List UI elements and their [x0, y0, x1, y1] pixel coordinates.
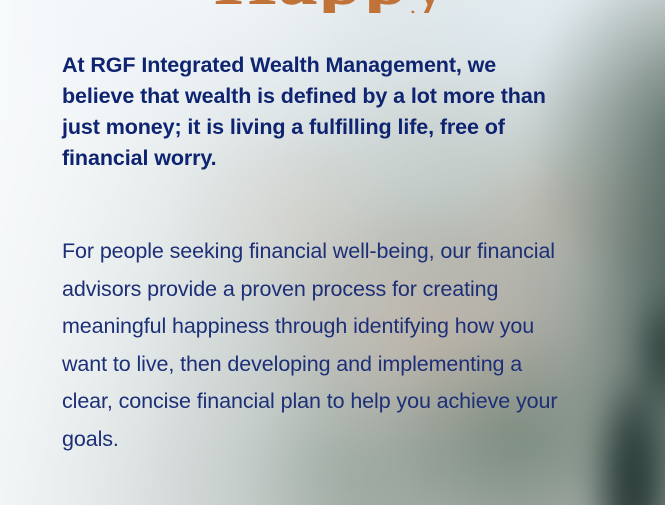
body-paragraph: For people seeking financial well-being,… — [62, 233, 567, 459]
cropped-heading-container: Happy — [0, 0, 665, 13]
lead-paragraph: At RGF Integrated Wealth Management, we … — [62, 50, 562, 174]
hero-section: Happy At RGF Integrated Wealth Managemen… — [0, 0, 665, 505]
page-heading: Happy — [0, 0, 665, 13]
hero-content: At RGF Integrated Wealth Management, we … — [0, 0, 665, 505]
